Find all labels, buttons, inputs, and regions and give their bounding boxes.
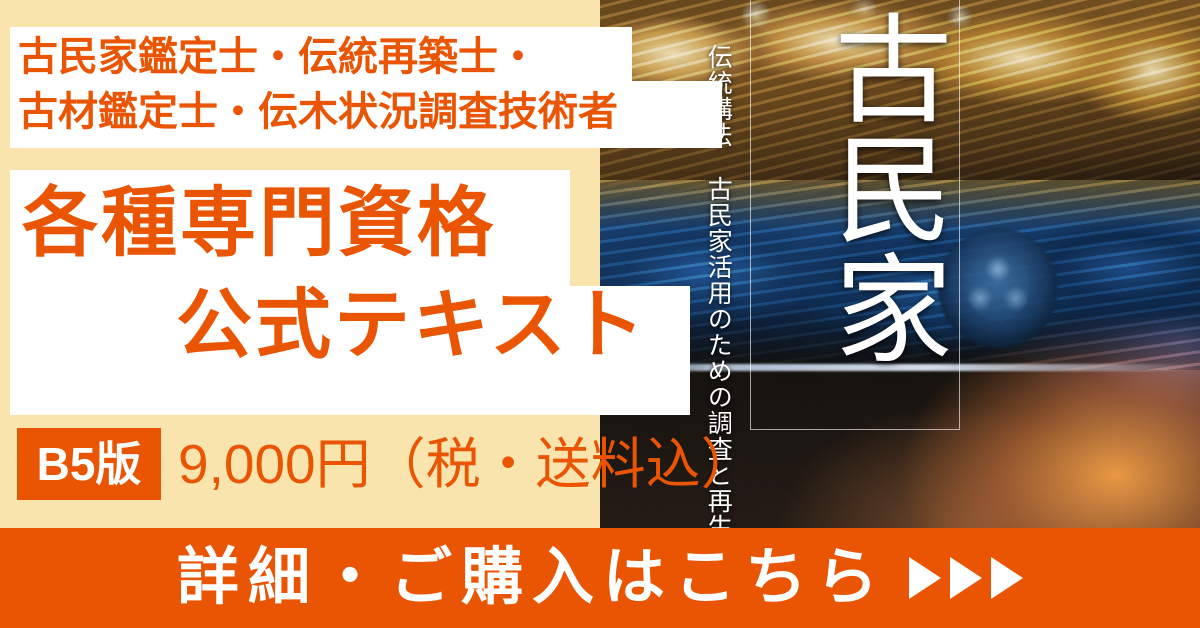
chevron-right-icon <box>950 557 982 599</box>
certifications-subheading: 古民家鑑定士・伝統再築士・ 古材鑑定士・伝木状況調査技術者 <box>18 30 718 140</box>
cta-bar[interactable]: 詳細・ご購入はこちら <box>0 528 1200 628</box>
cover-title: 古民家 <box>763 8 953 420</box>
heading-line-1: 各種専門資格 <box>22 186 496 262</box>
size-badge: B5版 <box>17 428 161 500</box>
cta-label: 詳細・ご購入はこちら <box>177 547 887 609</box>
cta-arrows <box>909 557 1023 599</box>
price-amount: 9,000円（税・送料込） <box>178 432 756 496</box>
promo-banner: 古民家 伝統構法 古民家活用のための調査と再生の 古民家鑑定士・伝統再築士・ 古… <box>0 0 1200 628</box>
heading-line-2: 公式テキスト <box>176 288 648 364</box>
chevron-right-icon <box>991 557 1023 599</box>
chevron-right-icon <box>909 557 941 599</box>
